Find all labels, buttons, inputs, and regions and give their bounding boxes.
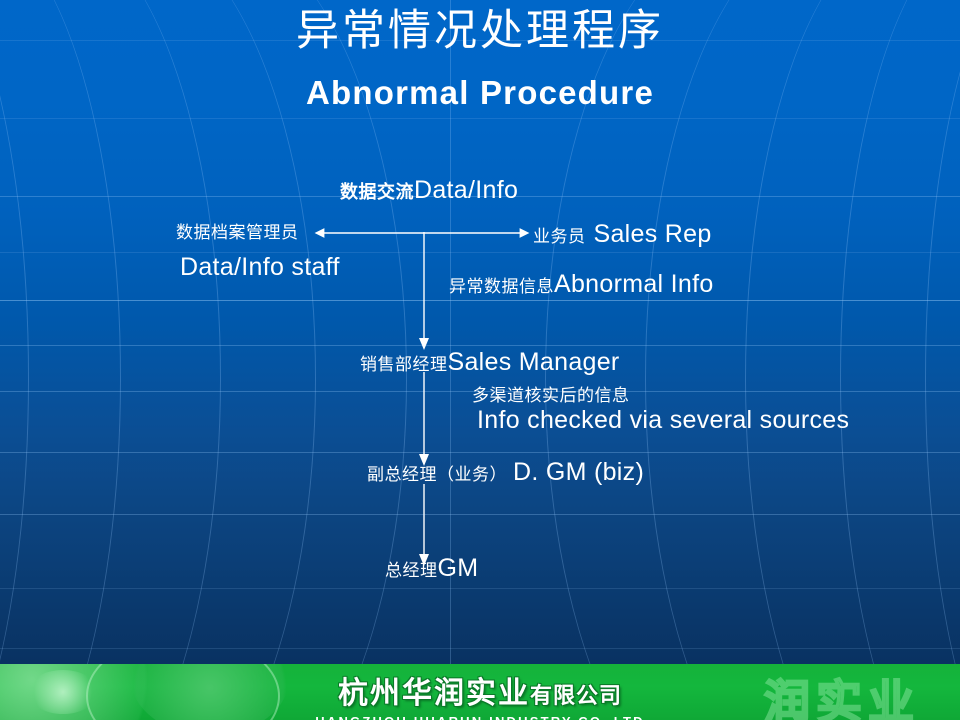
footer-company-name-en: HANGZHOU HUARUN INDUSTRY CO.,LTD [0, 714, 960, 720]
node-gm-en: GM [438, 556, 479, 581]
grid-latitude-line [0, 648, 960, 649]
slide-canvas: 异常情况处理程序 Abnormal Procedure 数据交流 Data/In… [0, 0, 960, 720]
node-data-info-staff-en: Data/Info staff [180, 255, 340, 280]
page-title-english: Abnormal Procedure [0, 74, 960, 112]
footer-company-name-cn: 杭州华润实业有限公司 [338, 668, 622, 712]
grid-latitude-line [0, 588, 960, 589]
node-sales-rep-en: Sales Rep [594, 222, 712, 247]
footer-company-name-cn-main: 杭州华润实业 [338, 676, 530, 711]
edge-label-abnormal-info-cn: 异常数据信息 [449, 279, 554, 296]
node-gm: 总经理 GM [385, 556, 478, 581]
page-title-chinese: 异常情况处理程序 [0, 9, 960, 54]
grid-latitude-line [0, 514, 960, 515]
node-deputy-gm-en: D. GM (biz) [513, 460, 644, 485]
edge-label-data-info: 数据交流 Data/Info [340, 178, 518, 203]
footer-logo-banner: 润实业 杭州华润实业有限公司 HANGZHOU HUARUN INDUSTRY … [0, 664, 960, 720]
node-gm-cn: 总经理 [385, 563, 438, 580]
edge-label-info-checked-cn: 多渠道核实后的信息 [472, 388, 630, 405]
grid-latitude-line [0, 300, 960, 301]
footer-company-name-cn-suffix: 有限公司 [530, 684, 622, 709]
node-deputy-gm: 副总经理（业务） D. GM (biz) [367, 460, 644, 485]
node-sales-rep-cn: 业务员 [533, 229, 586, 246]
node-data-info-staff-cn: 数据档案管理员 [176, 225, 299, 242]
node-sales-manager-en: Sales Manager [448, 350, 620, 375]
grid-latitude-line [0, 118, 960, 119]
node-sales-rep: 业务员 Sales Rep [533, 222, 712, 247]
edge-label-abnormal-info: 异常数据信息 Abnormal Info [449, 272, 714, 297]
arrow-down-to-deputy-gm [416, 372, 434, 470]
edge-label-data-info-cn: 数据交流 [340, 184, 414, 202]
edge-label-abnormal-info-en: Abnormal Info [554, 272, 714, 297]
grid-latitude-line [0, 345, 960, 346]
node-sales-manager: 销售部经理 Sales Manager [360, 350, 620, 375]
grid-latitude-line [0, 452, 960, 453]
footer-company-block: 杭州华润实业有限公司 HANGZHOU HUARUN INDUSTRY CO.,… [0, 664, 960, 720]
node-sales-manager-cn: 销售部经理 [360, 357, 448, 374]
edge-label-info-checked-en: Info checked via several sources [477, 408, 849, 433]
edge-label-data-info-en: Data/Info [414, 178, 518, 203]
node-deputy-gm-cn: 副总经理（业务） [367, 467, 507, 484]
grid-latitude-line [0, 252, 960, 253]
arrow-bidirectional-staff-salesrep [318, 224, 528, 244]
arrow-down-to-sales-manager [416, 232, 434, 352]
